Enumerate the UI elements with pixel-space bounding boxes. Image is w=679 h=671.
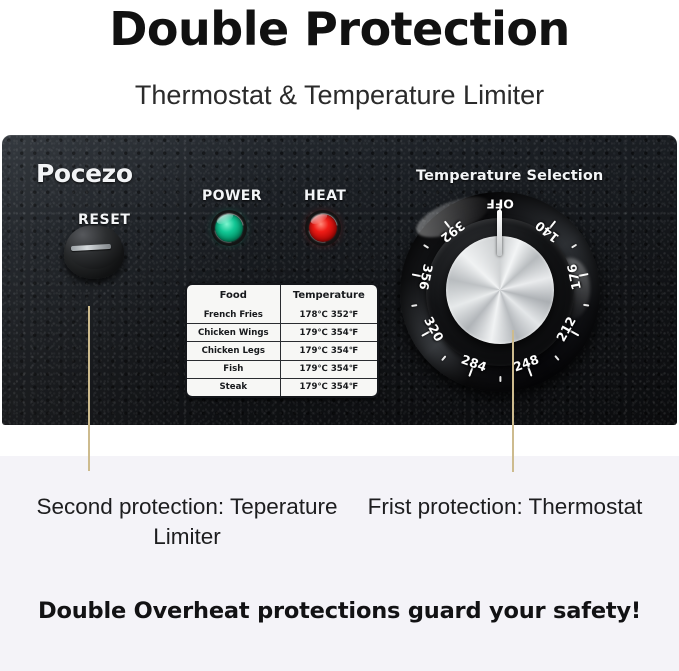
dial-tick-minor xyxy=(554,355,559,361)
table-cell-food: Fish xyxy=(187,360,280,378)
table-cell-food: Chicken Legs xyxy=(187,342,280,360)
food-temperature-table: Food Temperature French Fries 178℃ 352℉ … xyxy=(185,283,379,398)
table-cell-temperature: 179℃ 354℉ xyxy=(280,378,377,396)
page-subtitle: Thermostat & Temperature Limiter xyxy=(0,78,679,112)
table-header-food: Food xyxy=(187,285,280,306)
dial-tick-minor xyxy=(441,355,446,361)
power-lamp-bezel xyxy=(211,210,247,246)
table-row: Steak 179℃ 354℉ xyxy=(187,378,377,396)
table-header-temperature: Temperature xyxy=(280,285,377,306)
page-title: Double Protection xyxy=(0,2,679,56)
table-row: Fish 179℃ 354℉ xyxy=(187,360,377,378)
dial-pointer xyxy=(497,210,502,256)
product-feature-graphic: Double Protection Thermostat & Temperatu… xyxy=(0,0,679,671)
table-cell-temperature: 179℃ 354℉ xyxy=(280,360,377,378)
footer-tagline: Double Overheat protections guard your s… xyxy=(0,598,679,624)
leader-line-right xyxy=(512,330,514,472)
temperature-selection-label: Temperature Selection xyxy=(416,168,603,184)
dial-tick-minor xyxy=(423,244,429,249)
heat-indicator-light xyxy=(305,210,341,246)
table-row: Chicken Wings 179℃ 354℉ xyxy=(187,324,377,342)
leader-line-left xyxy=(88,306,90,471)
table-cell-food: Steak xyxy=(187,378,280,396)
brand-logo: Pocezo xyxy=(36,159,133,188)
table-row: French Fries 178℃ 352℉ xyxy=(187,306,377,324)
table-cell-food: Chicken Wings xyxy=(187,324,280,342)
power-label: POWER xyxy=(202,188,262,204)
dial-tick-minor xyxy=(411,304,417,307)
reset-label: RESET xyxy=(78,212,131,228)
table-cell-food: French Fries xyxy=(187,306,280,324)
table-row: Chicken Legs 179℃ 354℉ xyxy=(187,342,377,360)
caption-band xyxy=(0,456,679,671)
heat-label: HEAT xyxy=(304,188,346,204)
temperature-selection-dial[interactable]: OFF 140176212248284320356392 xyxy=(400,192,600,392)
dial-tick-minor xyxy=(571,244,577,249)
table-cell-temperature: 179℃ 354℉ xyxy=(280,342,377,360)
reset-button[interactable] xyxy=(64,225,124,281)
table-header-row: Food Temperature xyxy=(187,285,377,306)
power-indicator-light xyxy=(211,210,247,246)
table-cell-temperature: 179℃ 354℉ xyxy=(280,324,377,342)
table-cell-temperature: 178℃ 352℉ xyxy=(280,306,377,324)
heat-lamp-bezel xyxy=(305,210,341,246)
annotation-second-protection: Second protection: Teperature Limiter xyxy=(22,492,352,552)
dial-tick-minor xyxy=(499,376,501,382)
annotation-first-protection: Frist protection: Thermostat xyxy=(355,492,655,522)
